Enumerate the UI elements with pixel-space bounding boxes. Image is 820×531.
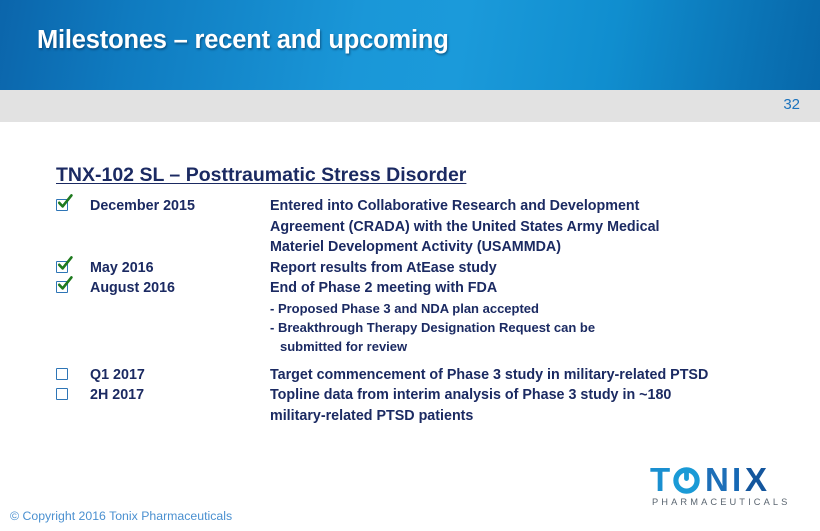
marker-cell [0, 365, 90, 386]
milestone-date: May 2016 [90, 258, 270, 279]
sub-bullet-row: - Breakthrough Therapy Designation Reque… [0, 318, 820, 356]
copyright-text: © Copyright 2016 Tonix Pharmaceuticals [10, 509, 232, 523]
milestone-description: Target commencement of Phase 3 study in … [270, 365, 820, 386]
description-line: Entered into Collaborative Research and … [270, 196, 820, 217]
header-divider-band: 32 [0, 90, 820, 124]
logo-letter-t: T [650, 464, 670, 495]
slide-header-band: Milestones – recent and upcoming [0, 0, 820, 90]
milestone-description: Entered into Collaborative Research and … [270, 196, 820, 258]
milestone-date: 2H 2017 [90, 385, 270, 406]
section-heading: TNX-102 SL – Posttraumatic Stress Disord… [56, 164, 466, 187]
milestone-date: December 2015 [90, 196, 270, 217]
description-line: Materiel Development Activity (USAMMDA) [270, 237, 820, 258]
tonix-logo: T N I X PHARMACEUTICALS [650, 464, 800, 512]
milestone-row: December 2015 Entered into Collaborative… [0, 196, 820, 258]
sub-bullet-indent [0, 318, 270, 356]
milestone-description: Topline data from interim analysis of Ph… [270, 385, 820, 426]
sub-bullet-row: - Proposed Phase 3 and NDA plan accepted [0, 299, 820, 318]
milestone-row: May 2016 Report results from AtEase stud… [0, 258, 820, 279]
milestone-description: Report results from AtEase study [270, 258, 820, 279]
milestone-date: Q1 2017 [90, 365, 270, 386]
checked-checkbox-icon [56, 199, 68, 211]
checked-checkbox-icon [56, 261, 68, 273]
sub-bullet-text: - Breakthrough Therapy Designation Reque… [270, 318, 595, 356]
sub-bullet-indent [0, 299, 270, 318]
checked-checkbox-icon [56, 281, 68, 293]
logo-letter-n: N [705, 464, 729, 495]
milestone-row: Q1 2017 Target commencement of Phase 3 s… [0, 365, 820, 386]
logo-wordmark: T N I X PHARMACEUTICALS [650, 464, 800, 495]
logo-tagline: PHARMACEUTICALS [652, 497, 790, 507]
sub-bullet-line: submitted for review [270, 337, 595, 356]
sub-bullet-line: - Proposed Phase 3 and NDA plan accepted [270, 301, 539, 316]
marker-cell [0, 278, 90, 299]
description-line: Agreement (CRADA) with the United States… [270, 217, 820, 238]
empty-checkbox-icon [56, 368, 68, 380]
logo-letter-i: I [732, 464, 741, 495]
sub-bullet-text: - Proposed Phase 3 and NDA plan accepted [270, 299, 539, 318]
description-line: Report results from AtEase study [270, 258, 820, 279]
marker-cell [0, 196, 90, 217]
slide-title: Milestones – recent and upcoming [37, 26, 449, 55]
milestone-row: August 2016 End of Phase 2 meeting with … [0, 278, 820, 299]
milestone-list: December 2015 Entered into Collaborative… [0, 196, 820, 426]
power-symbol-icon [673, 467, 700, 494]
page-number: 32 [783, 96, 800, 113]
empty-checkbox-icon [56, 388, 68, 400]
sub-bullet-line: - Breakthrough Therapy Designation Reque… [270, 320, 595, 335]
marker-cell [0, 258, 90, 279]
description-line: military-related PTSD patients [270, 406, 820, 427]
marker-cell [0, 385, 90, 406]
milestone-date: August 2016 [90, 278, 270, 299]
description-line: Target commencement of Phase 3 study in … [270, 365, 820, 386]
slide-canvas: Milestones – recent and upcoming 32 TNX-… [0, 0, 820, 531]
list-spacer [0, 356, 820, 365]
milestone-row: 2H 2017 Topline data from interim analys… [0, 385, 820, 426]
description-line: End of Phase 2 meeting with FDA [270, 278, 820, 299]
logo-letter-x: X [745, 464, 767, 495]
milestone-description: End of Phase 2 meeting with FDA [270, 278, 820, 299]
description-line: Topline data from interim analysis of Ph… [270, 385, 820, 406]
